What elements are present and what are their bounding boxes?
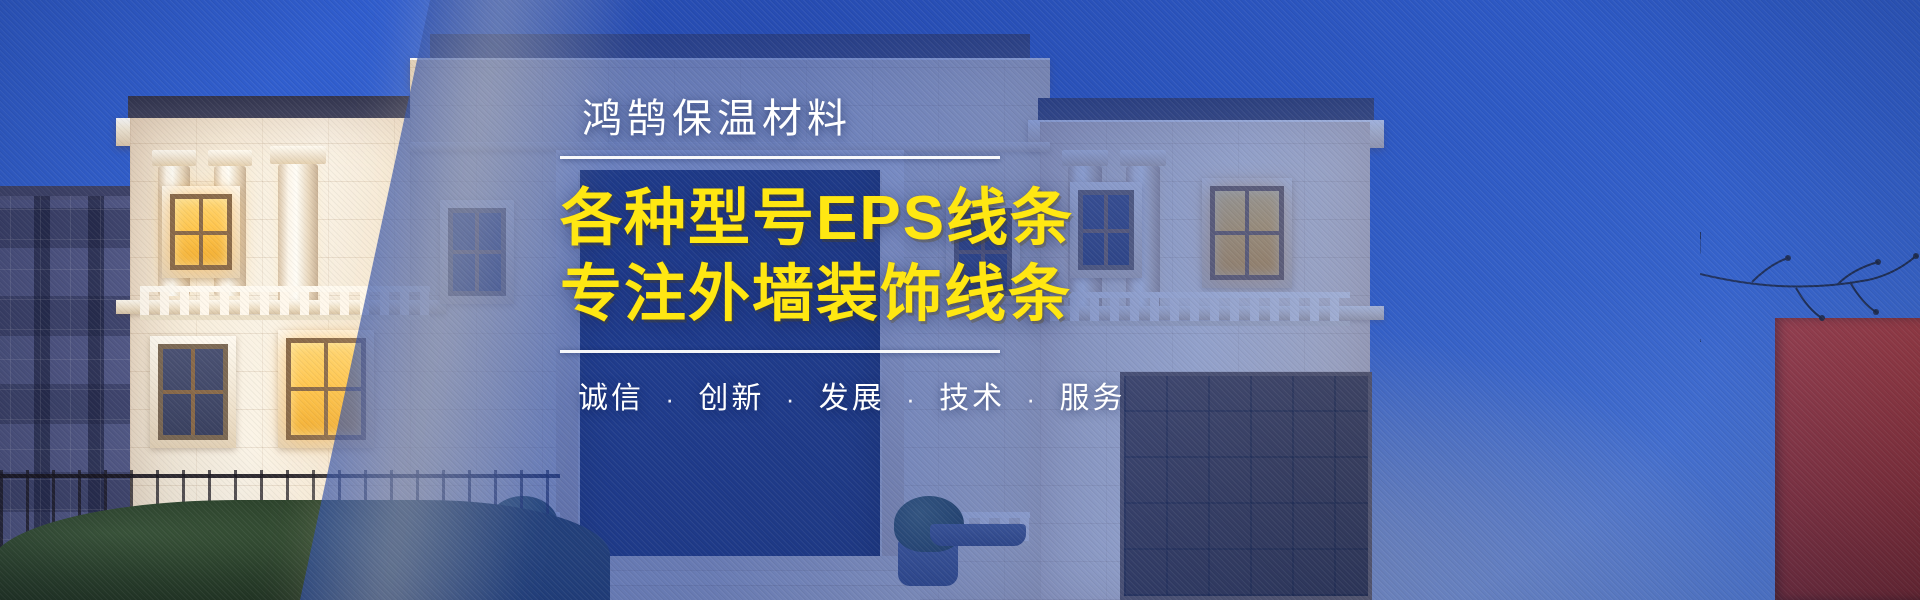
tagline-item-0: 诚信 (578, 382, 644, 415)
lit-window (170, 194, 232, 270)
center-roof (430, 34, 1030, 60)
window-box (930, 524, 1026, 546)
red-wall (1775, 318, 1920, 600)
lit-window (286, 338, 366, 440)
tagline-item-3: 技术 (939, 382, 1005, 415)
banner-copy: 鸿鹄保温材料 各种型号EPS线条 专注外墙装饰线条 诚信 · 创新 · 发展 ·… (560, 96, 1320, 417)
column-capital (152, 150, 196, 166)
dark-window (448, 208, 506, 296)
tagline: 诚信 · 创新 · 发展 · 技术 · 服务 (578, 373, 1320, 417)
company-name: 鸿鹄保温材料 (582, 96, 1320, 142)
dark-window (158, 344, 228, 440)
bare-branch (1700, 232, 1920, 342)
balcony-balustrade (140, 286, 430, 320)
column-capital (270, 146, 326, 164)
left-wing-roof (128, 96, 434, 120)
divider-top (560, 156, 1000, 159)
tagline-separator: · (906, 384, 918, 414)
promo-banner: 鸿鹄保温材料 各种型号EPS线条 专注外墙装饰线条 诚信 · 创新 · 发展 ·… (0, 0, 1920, 600)
headline-line-1: 各种型号EPS线条 (560, 181, 1320, 257)
column-capital (208, 150, 252, 166)
divider-bottom (560, 350, 1000, 353)
hedge (0, 500, 610, 600)
tagline-item-1: 创新 (698, 382, 764, 415)
tagline-separator: · (786, 384, 798, 414)
tagline-separator: · (665, 384, 677, 414)
headline-line-2: 专注外墙装饰线条 (560, 257, 1320, 333)
tagline-item-2: 发展 (819, 382, 885, 415)
tagline-separator: · (1026, 384, 1038, 414)
tagline-item-4: 服务 (1059, 382, 1125, 415)
